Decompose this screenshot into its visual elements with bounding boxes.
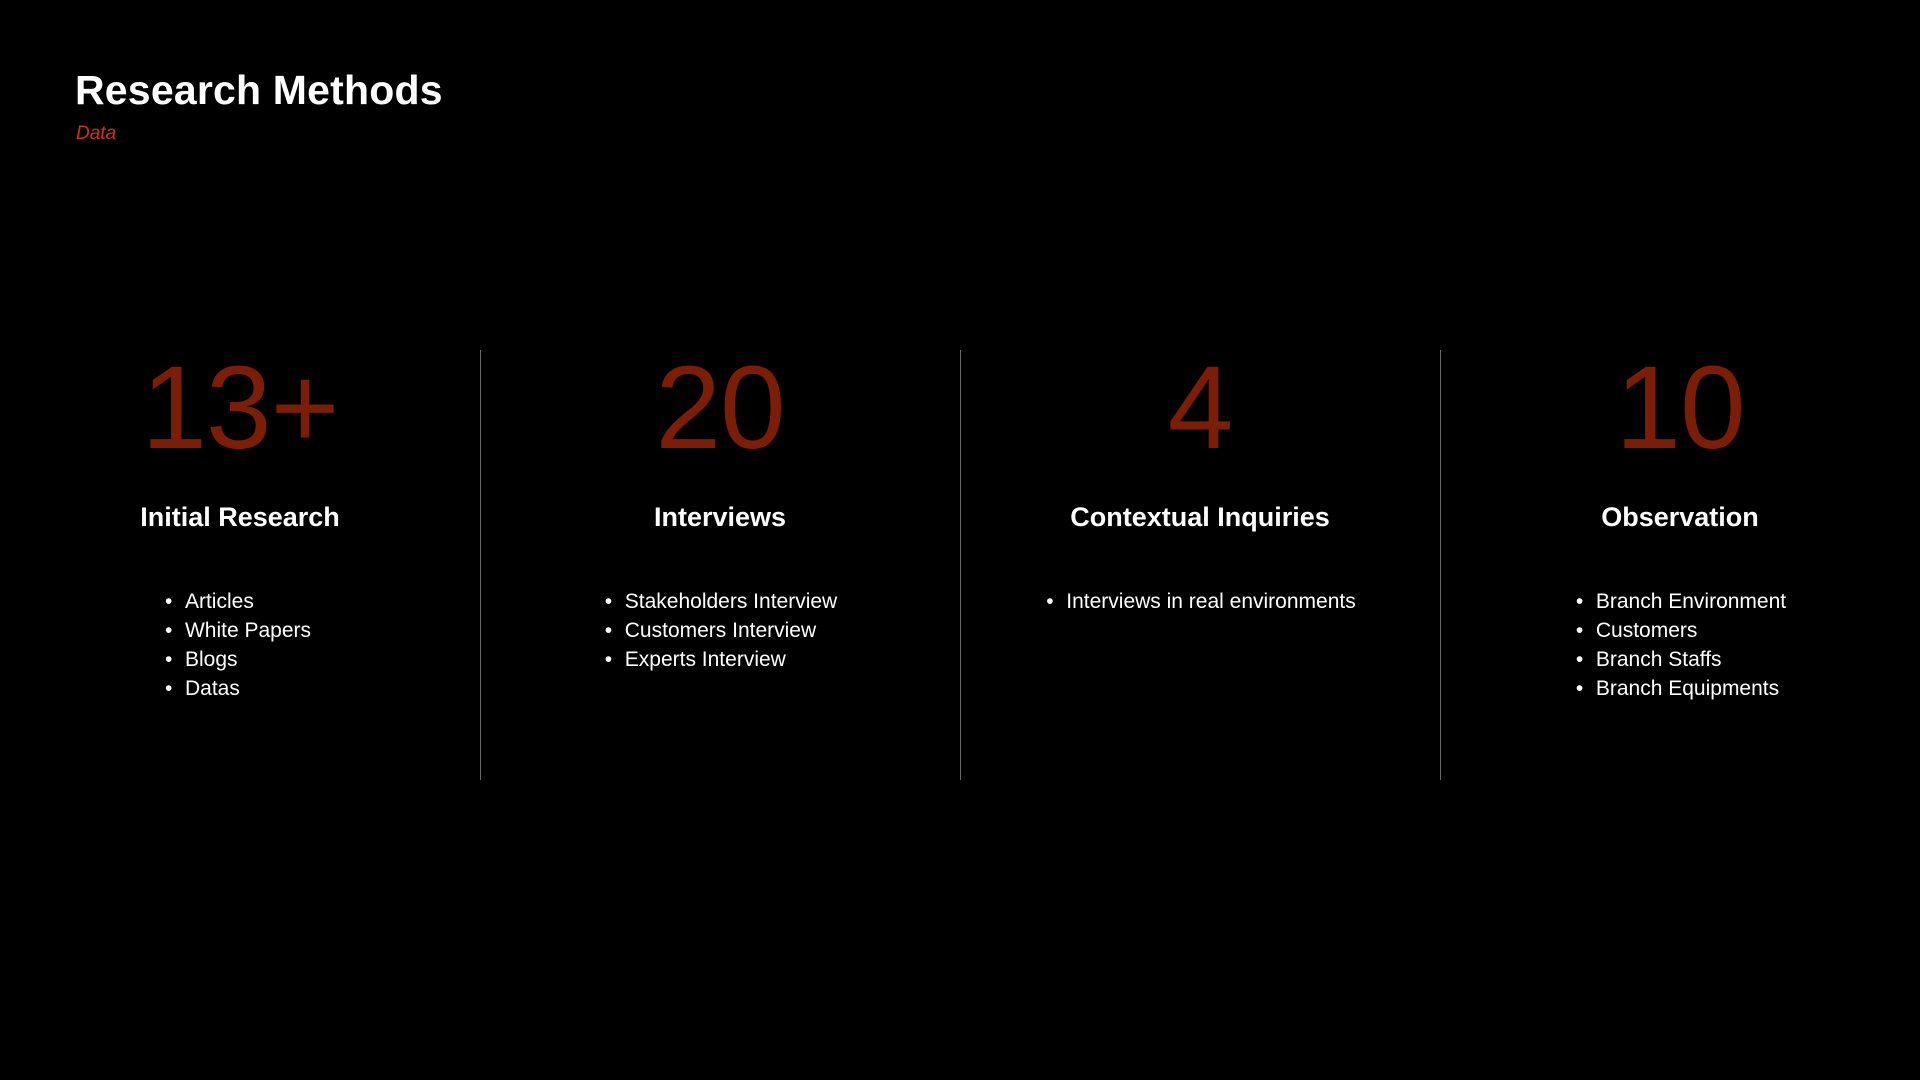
stat-number: 4 (978, 345, 1422, 501)
list-item: White Papers (163, 616, 311, 645)
slide-header: Research Methods Data (75, 68, 443, 143)
stat-heading: Initial Research (18, 501, 462, 587)
bullet-wrap: Stakeholders Interview Customers Intervi… (498, 587, 942, 674)
bullet-wrap: Branch Environment Customers Branch Staf… (1458, 587, 1902, 703)
bullet-wrap: Interviews in real environments (978, 587, 1422, 616)
list-item: Customers (1574, 616, 1786, 645)
list-item: Branch Staffs (1574, 645, 1786, 674)
list-item: Customers Interview (603, 616, 837, 645)
stat-number: 20 (498, 345, 942, 501)
list-item: Branch Environment (1574, 587, 1786, 616)
page-title: Research Methods (75, 68, 443, 113)
stat-column-observation: 10 Observation Branch Environment Custom… (1440, 345, 1920, 785)
list-item: Branch Equipments (1574, 674, 1786, 703)
list-item: Datas (163, 674, 311, 703)
bullet-wrap: Articles White Papers Blogs Datas (18, 587, 462, 703)
stats-columns: 13+ Initial Research Articles White Pape… (0, 345, 1920, 785)
stat-heading: Interviews (498, 501, 942, 587)
page-subtitle: Data (76, 124, 443, 143)
stat-heading: Contextual Inquiries (978, 501, 1422, 587)
stat-number: 13+ (18, 345, 462, 501)
bullet-list: Stakeholders Interview Customers Intervi… (603, 587, 837, 674)
slide-canvas: Research Methods Data 13+ Initial Resear… (0, 0, 1920, 1080)
stat-number: 10 (1458, 345, 1902, 501)
stat-column-interviews: 20 Interviews Stakeholders Interview Cus… (480, 345, 960, 785)
stat-column-initial-research: 13+ Initial Research Articles White Pape… (0, 345, 480, 785)
bullet-list: Interviews in real environments (1044, 587, 1355, 616)
list-item: Blogs (163, 645, 311, 674)
bullet-list: Branch Environment Customers Branch Staf… (1574, 587, 1786, 703)
list-item: Articles (163, 587, 311, 616)
stat-heading: Observation (1458, 501, 1902, 587)
list-item: Stakeholders Interview (603, 587, 837, 616)
bullet-list: Articles White Papers Blogs Datas (163, 587, 311, 703)
list-item: Experts Interview (603, 645, 837, 674)
list-item: Interviews in real environments (1044, 587, 1355, 616)
stat-column-contextual-inquiries: 4 Contextual Inquiries Interviews in rea… (960, 345, 1440, 785)
